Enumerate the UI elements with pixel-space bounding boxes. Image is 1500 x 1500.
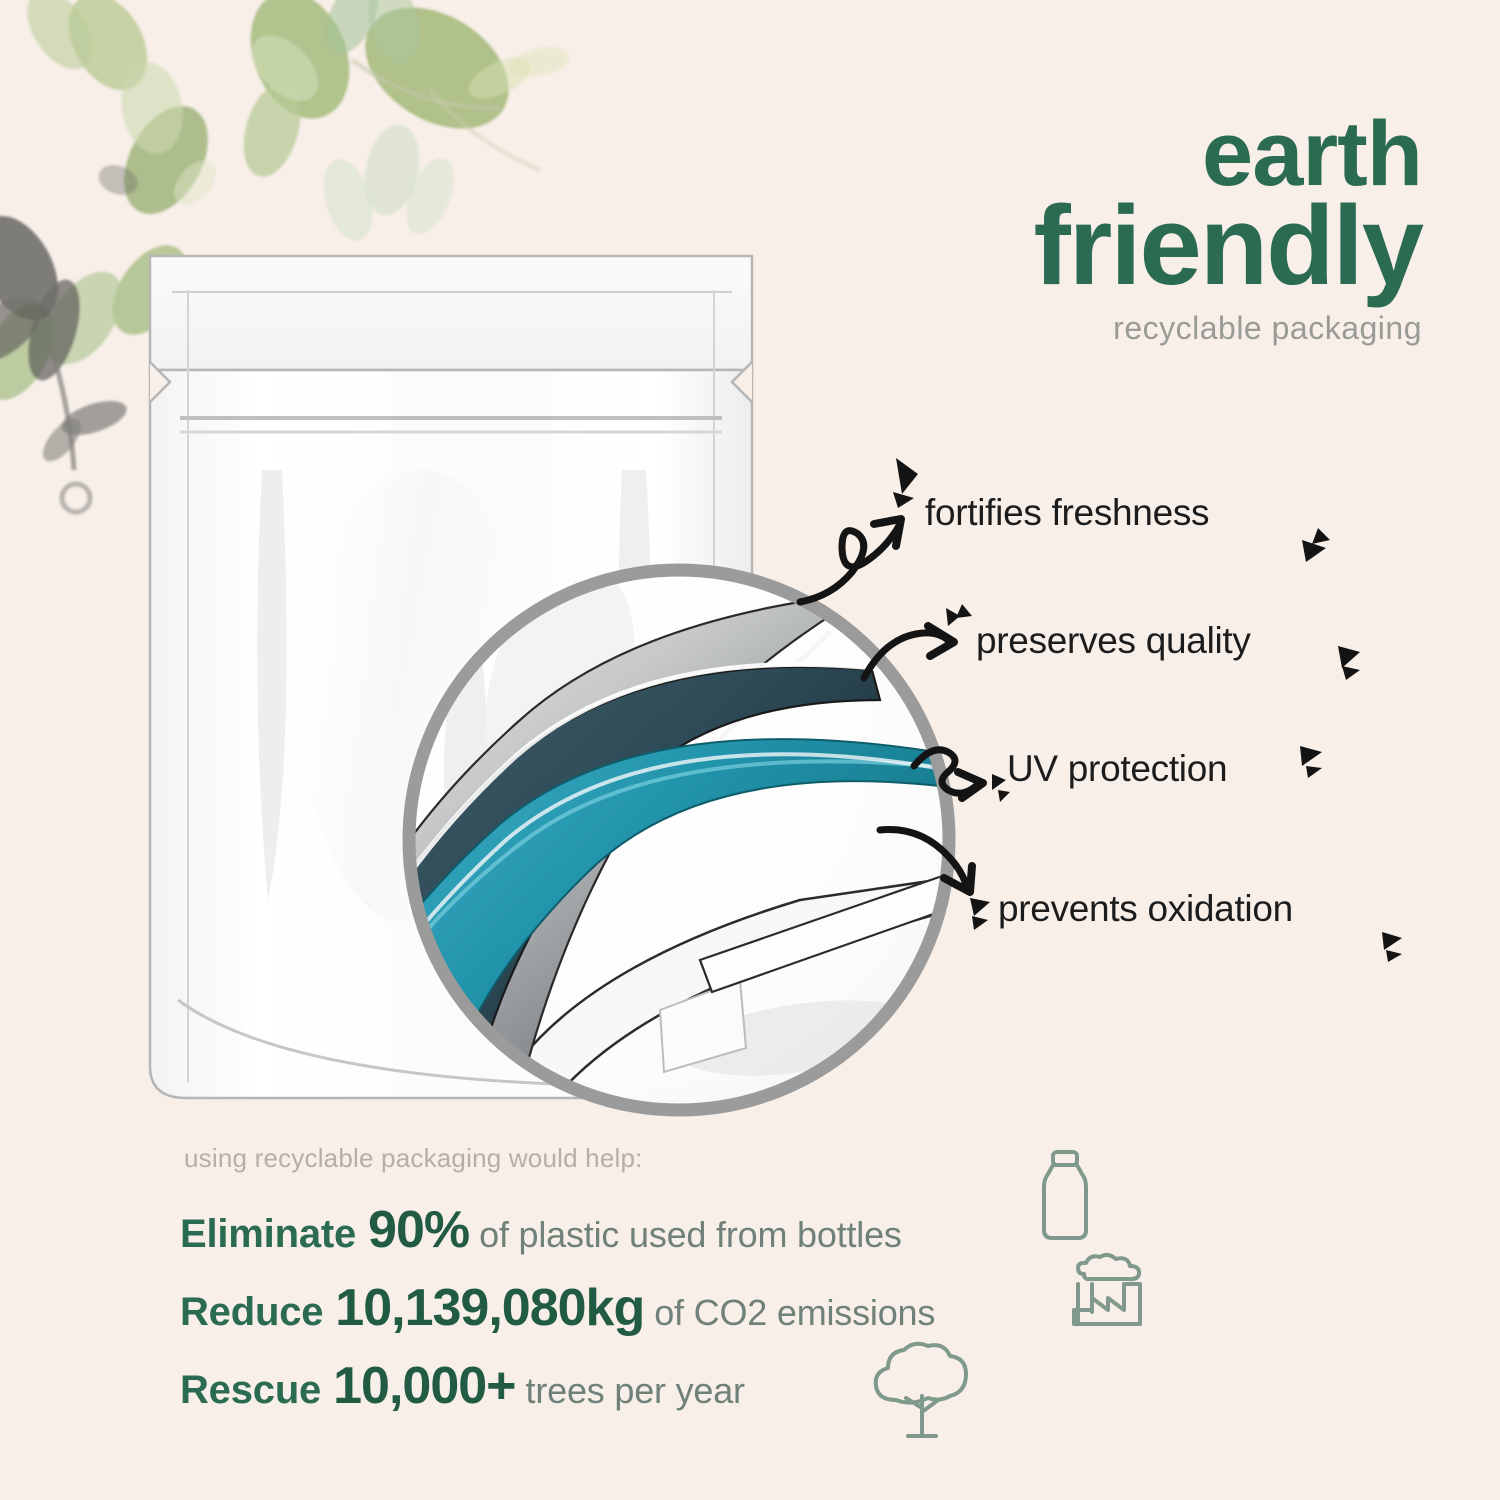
- headline-line-2: friendly: [862, 193, 1422, 298]
- headline-subtitle: recyclable packaging: [862, 312, 1422, 344]
- spark-glyph: [1312, 528, 1330, 544]
- feature-label-prevents-oxidation: prevents oxidation: [998, 888, 1293, 930]
- stat-value: 10,139,080kg: [335, 1278, 644, 1338]
- spark-glyph: [1338, 646, 1360, 668]
- arrow-head-2: [958, 772, 983, 798]
- feature-label-preserves-quality: preserves quality: [976, 620, 1251, 662]
- spark-glyph: [1306, 766, 1322, 778]
- stat-row-rescue: Rescue 10,000+ trees per year: [180, 1356, 1320, 1434]
- spark-glyph: [1300, 746, 1322, 766]
- feature-label-fortifies-freshness: fortifies freshness: [925, 492, 1209, 534]
- headline-block: earth friendly recyclable packaging: [862, 112, 1422, 344]
- arrow-head-1: [928, 626, 954, 656]
- bottle-icon: [1030, 1148, 1100, 1244]
- spark-glyph: [998, 790, 1010, 802]
- stat-verb: Rescue: [180, 1368, 321, 1413]
- spark-glyph: [970, 898, 990, 916]
- stat-verb: Eliminate: [180, 1212, 356, 1257]
- stat-value: 10,000+: [333, 1356, 515, 1416]
- spark-glyph: [992, 774, 1006, 790]
- stat-tail: of plastic used from bottles: [479, 1214, 902, 1256]
- feature-label-uv-protection: UV protection: [1007, 748, 1227, 790]
- spark-glyph: [1342, 666, 1360, 680]
- spark-glyph: [896, 458, 918, 494]
- stats-intro-text: using recyclable packaging would help:: [184, 1143, 1320, 1174]
- spark-glyph: [1382, 932, 1402, 950]
- spark-glyph: [956, 604, 972, 618]
- stat-tail: of CO2 emissions: [654, 1292, 935, 1334]
- spark-glyph: [893, 492, 914, 508]
- factory-icon: [1062, 1250, 1150, 1336]
- spark-glyph: [1386, 950, 1402, 962]
- arrow-to-feature-3: [880, 830, 966, 884]
- stat-value: 90%: [368, 1200, 469, 1260]
- tree-icon: [862, 1338, 982, 1448]
- stat-verb: Reduce: [180, 1290, 323, 1335]
- spark-glyph: [972, 916, 988, 930]
- infographic-canvas: earth friendly recyclable packaging fort…: [0, 0, 1500, 1500]
- arrow-to-feature-0: [800, 524, 900, 602]
- stat-tail: trees per year: [526, 1370, 745, 1412]
